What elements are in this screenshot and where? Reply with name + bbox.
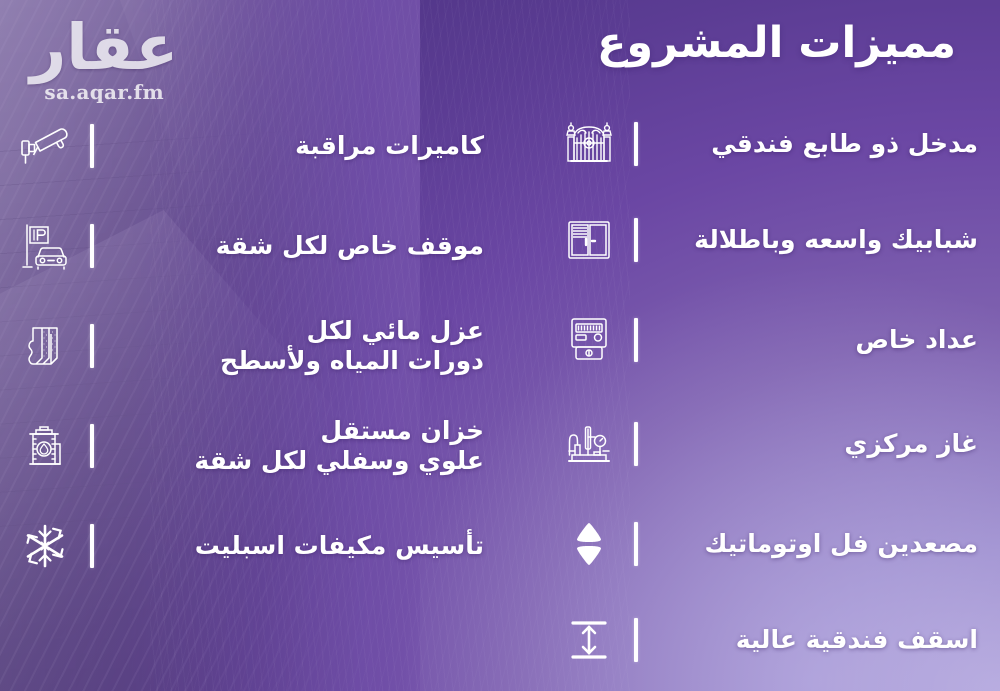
feature-label: تأسيس مكيفات اسبليت xyxy=(106,531,484,562)
feature-item-elevators: مصعدين فل اوتوماتيك xyxy=(558,496,978,592)
page-title: مميزات المشروع xyxy=(597,18,956,68)
feature-divider xyxy=(90,524,94,568)
logo-wordmark: عقار xyxy=(30,18,178,78)
cctv-camera-icon xyxy=(14,123,76,169)
features-column-right: مدخل ذو طابع فندقي xyxy=(558,96,978,688)
feature-divider xyxy=(634,522,638,566)
aqar-logo: عقار sa.aqar.fm xyxy=(30,18,178,104)
feature-label: موقف خاص لكل شقة xyxy=(106,231,484,262)
feature-item-water-tank: خزان مستقل علوي وسفلي لكل شقة xyxy=(14,396,484,496)
parking-car-icon xyxy=(14,221,76,271)
feature-divider xyxy=(634,122,638,166)
feature-label: عداد خاص xyxy=(650,325,978,356)
feature-item-private-parking: موقف خاص لكل شقة xyxy=(14,196,484,296)
feature-divider xyxy=(634,618,638,662)
gas-manifold-icon xyxy=(558,421,620,467)
project-features-poster: عقار sa.aqar.fm مميزات المشروع مدخل ذو ط… xyxy=(0,0,1000,691)
feature-divider xyxy=(90,324,94,368)
feature-label: غاز مركزي xyxy=(650,429,978,460)
feature-divider xyxy=(634,318,638,362)
electric-meter-icon xyxy=(558,315,620,365)
ornate-gate-icon xyxy=(558,119,620,169)
feature-divider xyxy=(90,424,94,468)
feature-label: مصعدين فل اوتوماتيك xyxy=(650,529,978,560)
feature-divider xyxy=(634,422,638,466)
feature-label: كاميرات مراقبة xyxy=(106,131,484,162)
feature-divider xyxy=(90,124,94,168)
feature-divider xyxy=(634,218,638,262)
feature-item-split-ac: تأسيس مكيفات اسبليت xyxy=(14,496,484,596)
window-icon xyxy=(558,217,620,263)
feature-item-water-insulation: عزل مائي لكل دورات المياه ولأسطح xyxy=(14,296,484,396)
insulation-layers-icon xyxy=(14,322,76,370)
feature-item-hotel-entrance: مدخل ذو طابع فندقي xyxy=(558,96,978,192)
elevator-icon xyxy=(558,520,620,568)
snowflake-icon xyxy=(14,522,76,570)
feature-label: مدخل ذو طابع فندقي xyxy=(650,129,978,160)
ceiling-height-icon xyxy=(558,617,620,663)
feature-label: شبابيك واسعه وباطلالة xyxy=(650,225,978,256)
feature-label: خزان مستقل علوي وسفلي لكل شقة xyxy=(106,416,484,477)
water-tank-icon xyxy=(14,422,76,470)
feature-item-wide-windows: شبابيك واسعه وباطلالة xyxy=(558,192,978,288)
features-column-left: كاميرات مراقبة موقف خاص لكل شقة xyxy=(14,96,484,596)
feature-item-surveillance-cameras: كاميرات مراقبة xyxy=(14,96,484,196)
feature-label: اسقف فندقية عالية xyxy=(650,625,978,656)
feature-label: عزل مائي لكل دورات المياه ولأسطح xyxy=(106,316,484,377)
feature-item-central-gas: غاز مركزي xyxy=(558,392,978,496)
feature-item-private-meter: عداد خاص xyxy=(558,288,978,392)
feature-item-high-ceilings: اسقف فندقية عالية xyxy=(558,592,978,688)
feature-divider xyxy=(90,224,94,268)
logo-domain: sa.aqar.fm xyxy=(30,80,178,104)
